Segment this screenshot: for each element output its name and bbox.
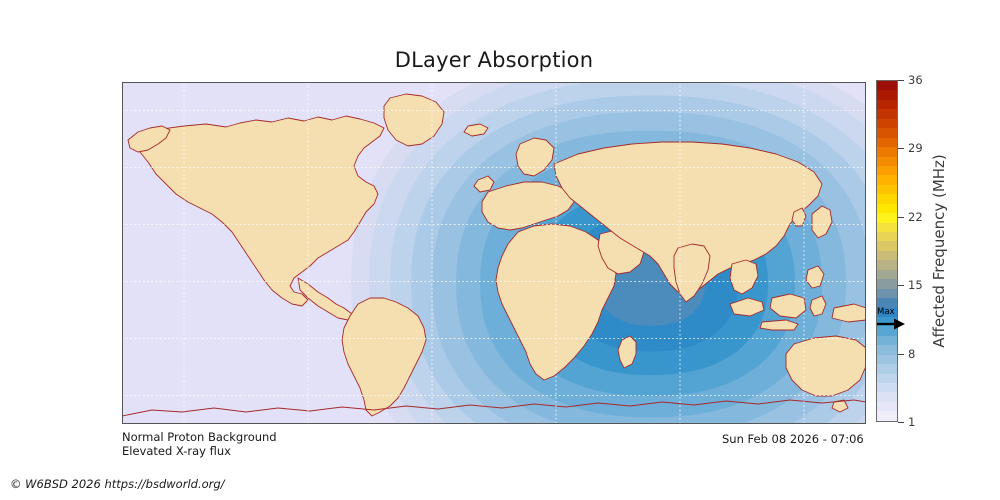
colorbar-segment <box>877 355 897 364</box>
colorbar-segment <box>877 109 897 118</box>
colorbar-segment <box>877 279 897 288</box>
colorbar-segment <box>877 194 897 203</box>
colorbar-segment <box>877 260 897 269</box>
colorbar-segment <box>877 175 897 184</box>
colorbar-tickmark <box>898 217 904 218</box>
colorbar-segment <box>877 289 897 298</box>
colorbar-segment <box>877 364 897 373</box>
colorbar-tick-label: 8 <box>908 347 915 361</box>
colorbar-axis-label-text: Affected Frequency (MHz) <box>930 154 948 348</box>
colorbar-segment <box>877 138 897 147</box>
colorbar-tick-label: 29 <box>908 141 923 155</box>
colorbar-tickmark <box>898 354 904 355</box>
colorbar-segment <box>877 232 897 241</box>
colorbar-segment <box>877 308 897 317</box>
copyright: © W6BSD 2026 https://bsdworld.org/ <box>10 477 225 491</box>
colorbar-segment <box>877 402 897 411</box>
colorbar-segment <box>877 345 897 354</box>
colorbar-tick-label: 36 <box>908 73 923 87</box>
timestamp: Sun Feb 08 2026 - 07:06 <box>722 432 864 446</box>
colorbar-segment <box>877 147 897 156</box>
colorbar-segment <box>877 270 897 279</box>
colorbar-segment <box>877 326 897 335</box>
colorbar-segment <box>877 119 897 128</box>
colorbar-tickmark <box>898 148 904 149</box>
colorbar-tickmark <box>898 80 904 81</box>
colorbar-segment <box>877 100 897 109</box>
colorbar-segment <box>877 157 897 166</box>
colorbar-segment <box>877 298 897 307</box>
colorbar-tick-label: 22 <box>908 210 923 224</box>
colorbar-segment <box>877 411 897 420</box>
colorbar-segment <box>877 241 897 250</box>
colorbar-tick-label: 15 <box>908 278 923 292</box>
status-notes: Normal Proton Background Elevated X-ray … <box>122 430 277 458</box>
colorbar-segment <box>877 374 897 383</box>
colorbar-segment <box>877 336 897 345</box>
proton-status: Normal Proton Background <box>122 430 277 444</box>
colorbar-segment <box>877 251 897 260</box>
colorbar-segment <box>877 128 897 137</box>
world-map[interactable] <box>122 82 866 424</box>
map-canvas <box>122 82 866 424</box>
dlayer-absorption-page: DLayer Absorption <box>0 0 1000 500</box>
colorbar-segment <box>877 223 897 232</box>
xray-status: Elevated X-ray flux <box>122 444 277 458</box>
colorbar-segment <box>877 185 897 194</box>
colorbar-segment <box>877 317 897 326</box>
page-title: DLayer Absorption <box>0 48 988 72</box>
colorbar-segment <box>877 81 897 90</box>
colorbar-segment <box>877 166 897 175</box>
colorbar-segment <box>877 383 897 392</box>
colorbar-axis-label: Affected Frequency (MHz) <box>929 80 949 422</box>
colorbar-segment <box>877 213 897 222</box>
colorbar-segment <box>877 90 897 99</box>
colorbar-tick-label: 1 <box>908 415 915 429</box>
colorbar-segment <box>877 204 897 213</box>
colorbar-segment <box>877 392 897 401</box>
colorbar-tickmark <box>898 422 904 423</box>
colorbar[interactable] <box>876 80 898 422</box>
colorbar-tickmark <box>898 285 904 286</box>
